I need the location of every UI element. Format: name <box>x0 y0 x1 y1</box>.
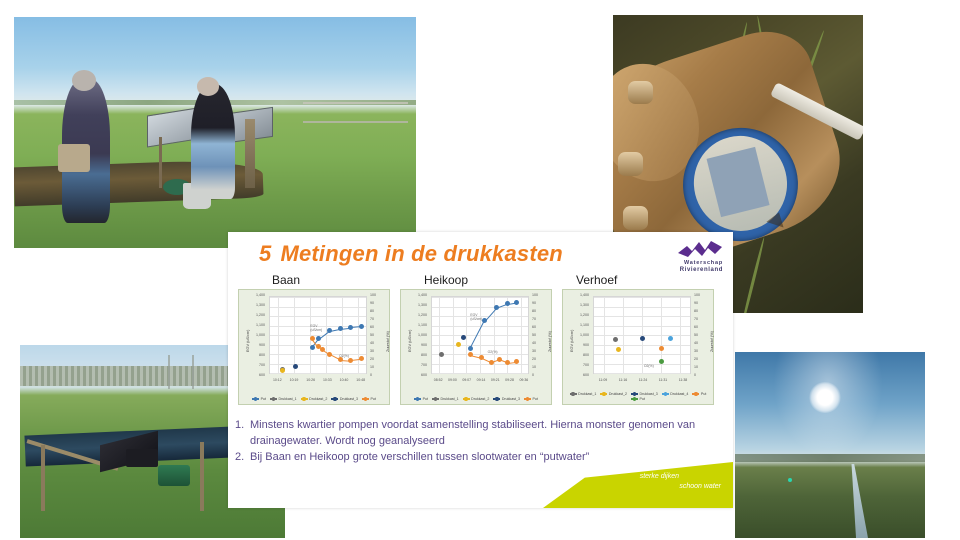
waterschap-logo: Waterschap Rivierenland <box>647 240 725 276</box>
legend-item: Drukkast_1 <box>270 397 297 401</box>
x-axis-tick-label: 10:33 <box>323 378 332 382</box>
chart-title-heikoop: Heikoop <box>424 273 468 287</box>
y2-axis-tick-label: 10 <box>694 366 710 370</box>
y-axis-tick-label: 1,400 <box>411 294 427 298</box>
legend-swatch <box>631 398 638 399</box>
presentation-slide: 5Metingen in de drukkasten Waterschap Ri… <box>228 232 733 508</box>
y2-axis-tick-label: 0 <box>370 374 386 378</box>
legend-swatch <box>252 398 259 399</box>
bolt <box>623 206 648 230</box>
y-axis-tick-label: 1,400 <box>249 294 265 298</box>
bullet-text: Bij Baan en Heikoop grote verschillen tu… <box>250 450 589 466</box>
fence-post <box>200 442 204 511</box>
x-axis-tick-label: 09:14 <box>477 378 486 382</box>
y2-axis-tick-label: 20 <box>532 358 548 362</box>
slide-title: 5Metingen in de drukkasten <box>259 241 563 267</box>
y-axis-title: EGV (uS/cm) <box>408 330 412 352</box>
x-axis-tick-label: 10:26 <box>306 378 315 382</box>
y-axis-tick-label: 1,200 <box>573 314 589 318</box>
y-axis-tick-label: 600 <box>573 374 589 378</box>
y2-axis-title: Zuurstof (%) <box>548 331 552 352</box>
gridline-vertical <box>521 297 522 373</box>
data-point <box>316 336 321 341</box>
x-axis-tick-label: 11:09 <box>599 378 608 382</box>
lens-flare-dot <box>788 478 792 482</box>
gridline-vertical <box>642 297 643 373</box>
legend-item: Drukkast_2 <box>463 397 490 401</box>
legend-label: Put <box>533 397 538 401</box>
chart-baan: EGV(uS/cm)O2(%)6007008009001,0001,1001,2… <box>238 289 390 405</box>
data-point <box>514 359 519 364</box>
legend-swatch <box>463 398 470 399</box>
y2-axis-tick-label: 90 <box>370 302 386 306</box>
green-pump-box <box>158 465 190 486</box>
legend-label: Drukkast_2 <box>309 397 327 401</box>
power-pylon <box>168 355 193 390</box>
data-point <box>327 352 332 357</box>
legend-item: Drukkast_3 <box>331 397 358 401</box>
gridline-vertical <box>342 297 343 373</box>
legend-label: Put <box>701 392 706 396</box>
legend-item: Put <box>692 392 706 396</box>
legend-label: Put <box>423 397 428 401</box>
y-axis-tick-label: 1,200 <box>411 314 427 318</box>
legend-item: Put <box>362 397 376 401</box>
legend-label: Put <box>371 397 376 401</box>
y2-axis-tick-label: 60 <box>694 326 710 330</box>
y-axis-title: EGV (uS/cm) <box>246 330 250 352</box>
grass-blade <box>739 237 765 313</box>
x-axis-tick-label: 10:40 <box>340 378 349 382</box>
fence <box>303 102 408 122</box>
data-point <box>616 347 621 352</box>
plot-area: O2(%) <box>593 296 691 374</box>
photo-field-station <box>14 17 416 248</box>
y2-axis-tick-label: 100 <box>370 294 386 298</box>
gridline-vertical <box>439 297 440 373</box>
y2-axis-tick-label: 80 <box>532 310 548 314</box>
y-axis-tick-label: 1,400 <box>573 294 589 298</box>
slide-title-text: Metingen in de drukkasten <box>280 241 563 266</box>
footer-line-2: schoon water <box>679 483 721 490</box>
chart-verhoef: O2(%)6007008009001,0001,1001,2001,3001,4… <box>562 289 714 405</box>
y2-axis-tick-label: 50 <box>694 334 710 338</box>
data-point <box>348 358 353 363</box>
person-head <box>197 77 219 95</box>
legend-swatch <box>432 398 439 399</box>
data-point <box>659 346 664 351</box>
bolt <box>618 152 643 176</box>
footer-line-1: sterke dijken <box>640 473 679 480</box>
legend-item: Put <box>252 397 266 401</box>
shoulder-bag <box>58 144 90 172</box>
y-axis-tick-label: 1,300 <box>411 304 427 308</box>
x-axis-tick-label: 11:38 <box>679 378 688 382</box>
legend-swatch <box>524 398 531 399</box>
legend-swatch <box>662 393 669 394</box>
legend-item: Drukkast_2 <box>301 397 328 401</box>
person-bending <box>191 84 235 200</box>
legend-swatch <box>362 398 369 399</box>
y2-axis-tick-label: 50 <box>370 334 386 338</box>
y-axis-tick-label: 1,100 <box>573 324 589 328</box>
gridline-vertical <box>278 297 279 373</box>
legend-item: Drukkast_3 <box>493 397 520 401</box>
y2-axis-tick-label: 40 <box>370 342 386 346</box>
x-axis-tick-label: 09:28 <box>505 378 514 382</box>
bullet-number: 1. <box>235 418 250 449</box>
legend-label: Drukkast_4 <box>670 392 688 396</box>
y-axis-tick-label: 600 <box>249 374 265 378</box>
data-point <box>338 326 343 331</box>
legend-label: Drukkast_1 <box>278 397 296 401</box>
legend-swatch <box>414 398 421 399</box>
y2-axis-tick-label: 10 <box>370 366 386 370</box>
logo-line-1: Waterschap <box>647 260 723 266</box>
y2-axis-tick-label: 60 <box>370 326 386 330</box>
y-axis-tick-label: 600 <box>411 374 427 378</box>
data-point <box>668 336 673 341</box>
chart-annotation: EGV(uS/cm) <box>470 313 482 322</box>
y2-axis-tick-label: 0 <box>694 374 710 378</box>
data-point <box>359 356 364 361</box>
gridline-vertical <box>453 297 454 373</box>
x-axis-tick-label: 08:52 <box>434 378 443 382</box>
equipment-box <box>126 449 158 466</box>
y2-axis-tick-label: 30 <box>370 350 386 354</box>
legend-label: Drukkast_3 <box>340 397 358 401</box>
x-axis-tick-label: 11:24 <box>639 378 648 382</box>
legend-swatch <box>692 393 699 394</box>
legend-item: Drukkast_1 <box>432 397 459 401</box>
chart-legend: PutDrukkast_1Drukkast_2Drukkast_3Put <box>405 397 547 401</box>
y-axis-tick-label: 1,000 <box>573 334 589 338</box>
y-axis-tick-label: 700 <box>411 364 427 368</box>
y-axis-tick-label: 900 <box>249 344 265 348</box>
chart-legend: Drukkast_1Drukkast_2Drukkast_3Drukkast_4… <box>567 392 709 401</box>
chart-title-verhoef: Verhoef <box>576 273 617 287</box>
legend-swatch <box>331 398 338 399</box>
logo-line-2: Rivierenland <box>647 267 723 273</box>
data-point <box>505 301 510 306</box>
x-axis-tick-label: 09:00 <box>448 378 457 382</box>
fence-post <box>41 445 45 511</box>
data-point <box>456 342 461 347</box>
legend-item: Drukkast_4 <box>662 392 689 396</box>
data-point <box>327 328 332 333</box>
legend-label: Drukkast_1 <box>578 392 596 396</box>
y-axis-tick-label: 1,100 <box>249 324 265 328</box>
plot-area: EGV(uS/cm)O2(%) <box>431 296 529 374</box>
y2-axis-title: Zuurstof (%) <box>710 331 714 352</box>
legend-item: Drukkast_1 <box>570 392 597 396</box>
gridline-vertical <box>680 297 681 373</box>
gridline-horizontal <box>270 307 366 308</box>
y2-axis-tick-label: 90 <box>532 302 548 306</box>
legend-swatch <box>631 393 638 394</box>
y2-axis-tick-label: 40 <box>694 342 710 346</box>
data-point <box>659 359 664 364</box>
y2-axis-tick-label: 30 <box>532 350 548 354</box>
gridline-vertical <box>358 297 359 373</box>
x-axis-tick-label: 11:31 <box>659 378 668 382</box>
legend-label: Drukkast_3 <box>502 397 520 401</box>
data-point <box>640 336 645 341</box>
chart-annotation: EGV(uS/cm) <box>310 324 322 333</box>
y-axis-tick-label: 800 <box>573 354 589 358</box>
y-axis-tick-label: 800 <box>249 354 265 358</box>
data-point <box>468 346 473 351</box>
data-point <box>494 305 499 310</box>
data-point <box>497 357 502 362</box>
y-axis-tick-label: 1,300 <box>573 304 589 308</box>
x-axis-tick-label: 09:36 <box>519 378 528 382</box>
y-axis-tick-label: 900 <box>411 344 427 348</box>
bullet-number: 2. <box>235 450 250 466</box>
y-axis-tick-label: 1,300 <box>249 304 265 308</box>
data-point <box>338 357 343 362</box>
x-axis-tick-label: 09:21 <box>491 378 500 382</box>
y-axis-tick-label: 700 <box>249 364 265 368</box>
data-point <box>348 325 353 330</box>
bullet-list: 1. Minstens kwartier pompen voordat same… <box>235 418 705 467</box>
y2-axis-tick-label: 70 <box>694 318 710 322</box>
data-point <box>293 364 298 369</box>
bullet-text: Minstens kwartier pompen voordat samenst… <box>250 418 705 449</box>
y-axis-tick-label: 700 <box>573 364 589 368</box>
legend-label: Put <box>261 397 266 401</box>
y-axis-tick-label: 800 <box>411 354 427 358</box>
y-axis-tick-label: 1,200 <box>249 314 265 318</box>
data-point <box>514 300 519 305</box>
y2-axis-tick-label: 50 <box>532 334 548 338</box>
y2-axis-tick-label: 10 <box>532 366 548 370</box>
gridline-vertical <box>310 297 311 373</box>
chart-annotation: O2(%) <box>488 350 498 354</box>
y2-axis-tick-label: 100 <box>532 294 548 298</box>
legend-swatch <box>301 398 308 399</box>
x-axis-tick-label: 10:48 <box>356 378 365 382</box>
panel-leg <box>159 137 162 188</box>
plot-area: EGV(uS/cm)O2(%) <box>269 296 367 374</box>
photo-sun-polder <box>735 352 925 538</box>
y-axis-title: EGV (uS/cm) <box>570 330 574 352</box>
y2-axis-tick-label: 80 <box>370 310 386 314</box>
gridline-horizontal <box>432 373 528 374</box>
gridline-horizontal <box>594 373 690 374</box>
wooden-post <box>245 119 255 188</box>
legend-label: Drukkast_1 <box>440 397 458 401</box>
legend-label: Drukkast_2 <box>609 392 627 396</box>
drainage-channel <box>841 464 868 538</box>
chart-legend: PutDrukkast_1Drukkast_2Drukkast_3Put <box>243 397 385 401</box>
gridline-vertical <box>294 297 295 373</box>
y-axis-tick-label: 900 <box>573 344 589 348</box>
legend-item: Drukkast_2 <box>600 392 627 396</box>
y2-axis-tick-label: 30 <box>694 350 710 354</box>
data-point <box>482 318 487 323</box>
legend-swatch <box>493 398 500 399</box>
gridline-vertical <box>326 297 327 373</box>
y-axis-tick-label: 1,000 <box>249 334 265 338</box>
gridline-horizontal <box>270 297 366 298</box>
chart-heikoop: EGV(uS/cm)O2(%)6007008009001,0001,1001,2… <box>400 289 552 405</box>
bullet-item: 1. Minstens kwartier pompen voordat same… <box>235 418 705 449</box>
gridline-vertical <box>480 297 481 373</box>
y2-axis-tick-label: 70 <box>532 318 548 322</box>
x-axis-tick-label: 10:12 <box>273 378 282 382</box>
data-point <box>439 352 444 357</box>
y2-axis-title: Zuurstof (%) <box>386 331 390 352</box>
x-axis-tick-label: 10:19 <box>290 378 299 382</box>
slide-number: 5 <box>259 241 271 266</box>
y2-axis-tick-label: 60 <box>532 326 548 330</box>
data-point <box>613 337 618 342</box>
gridline-vertical <box>604 297 605 373</box>
x-axis-tick-label: 11:16 <box>619 378 628 382</box>
y2-axis-tick-label: 70 <box>370 318 386 322</box>
gridline-horizontal <box>270 354 366 355</box>
gridline-horizontal <box>270 316 366 317</box>
x-axis-tick-label: 09:07 <box>462 378 471 382</box>
treeline <box>735 454 925 461</box>
y2-axis-tick-label: 100 <box>694 294 710 298</box>
data-point <box>359 324 364 329</box>
gridline-vertical <box>623 297 624 373</box>
y2-axis-tick-label: 80 <box>694 310 710 314</box>
y2-axis-tick-label: 0 <box>532 374 548 378</box>
data-point <box>489 360 494 365</box>
y2-axis-tick-label: 20 <box>370 358 386 362</box>
y-axis-tick-label: 1,100 <box>411 324 427 328</box>
legend-item: Put <box>524 397 538 401</box>
slide-footer-banner: sterke dijken schoon water <box>543 462 733 508</box>
gridline-vertical <box>466 297 467 373</box>
y2-axis-tick-label: 20 <box>694 358 710 362</box>
legend-swatch <box>600 393 607 394</box>
legend-label: Drukkast_3 <box>640 392 658 396</box>
waterschap-logo-icon <box>677 240 723 260</box>
chart-annotation: O2(%) <box>644 364 654 368</box>
legend-item: Drukkast_3 <box>631 392 658 396</box>
gridline-horizontal <box>270 364 366 365</box>
legend-label: Put <box>640 397 645 401</box>
y2-axis-tick-label: 90 <box>694 302 710 306</box>
legend-swatch <box>270 398 277 399</box>
legend-item: Put <box>414 397 428 401</box>
data-point <box>310 345 315 350</box>
bolt <box>628 81 653 105</box>
y-axis-tick-label: 1,000 <box>411 334 427 338</box>
legend-item: Put <box>631 397 645 401</box>
gridline-horizontal <box>270 373 366 374</box>
legend-label: Drukkast_2 <box>471 397 489 401</box>
chart-title-baan: Baan <box>272 273 300 287</box>
legend-swatch <box>570 393 577 394</box>
bullet-item: 2. Bij Baan en Heikoop grote verschillen… <box>235 450 705 466</box>
y2-axis-tick-label: 40 <box>532 342 548 346</box>
